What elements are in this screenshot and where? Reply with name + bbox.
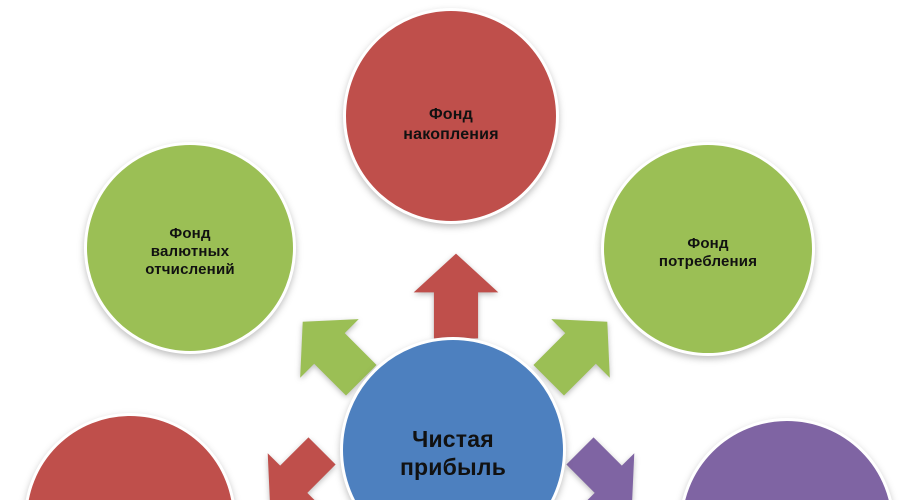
node-consumption[interactable]: Фонд потребления [601,142,815,356]
arrow-down-right-icon [552,437,660,500]
arrow-down-left-icon [248,437,344,500]
node-consumption-label: Фонд потребления [649,235,767,272]
arrow-up-icon [410,250,502,342]
node-accumulation[interactable]: Фонд накопления [343,8,559,224]
arrow-up-right-icon [533,306,623,396]
node-accumulation-label: Фонд накопления [393,105,508,144]
node-currency[interactable]: Фонд валютных отчислений [84,142,296,354]
node-reserve[interactable] [679,418,895,500]
node-currency-label: Фонд валютных отчислений [135,225,245,280]
diagram-canvas: Фонд накопления Фонд валютных отчислений… [0,0,900,500]
node-undistributed[interactable]: Нераспре- [24,413,236,500]
node-net-profit-label: Чистая прибыль [390,425,516,481]
